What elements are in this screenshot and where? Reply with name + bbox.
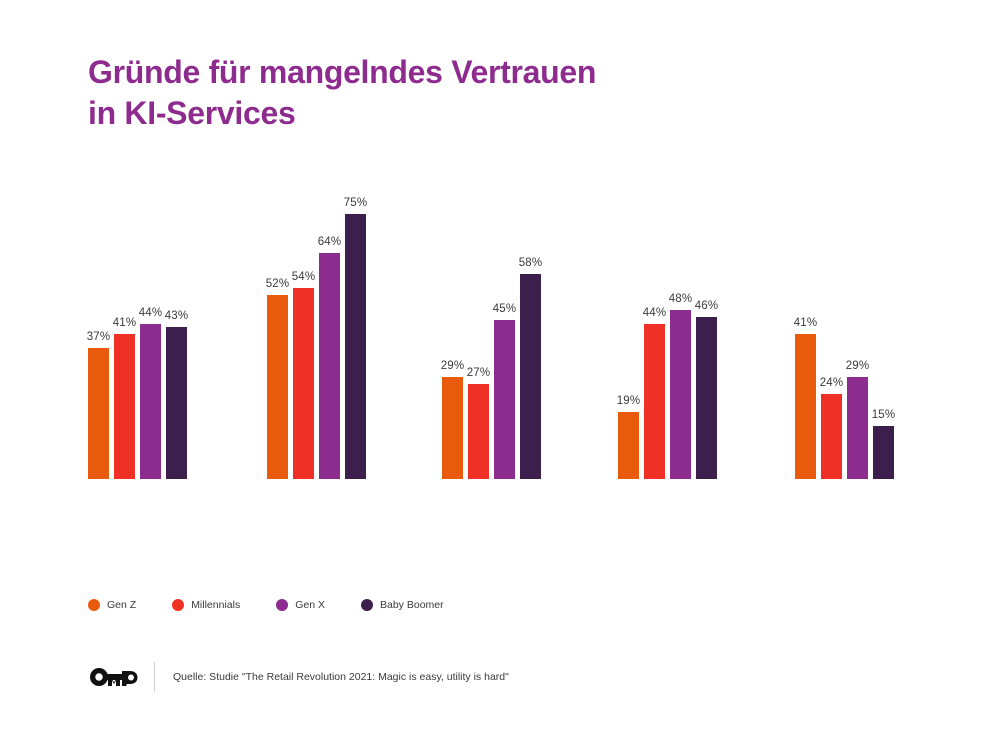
omp-logo	[88, 663, 140, 691]
bar-column[interactable]: 44%	[644, 179, 665, 479]
bar-group-bars: 29%27%45%58%	[442, 179, 546, 479]
bar[interactable]	[140, 324, 161, 479]
bar-column[interactable]: 48%	[670, 179, 691, 479]
bar-column[interactable]: 15%	[873, 179, 894, 479]
bar[interactable]	[873, 426, 894, 479]
bar[interactable]	[795, 334, 816, 479]
bar-value-label: 15%	[872, 409, 896, 421]
bar-column[interactable]: 75%	[345, 179, 366, 479]
bar-group-bars: 19%44%48%46%	[618, 179, 722, 479]
bar[interactable]	[166, 327, 187, 479]
bar-value-label: 41%	[113, 317, 137, 329]
bar-group-bars: 37%41%44%43%	[88, 179, 192, 479]
bar-value-label: 29%	[846, 360, 870, 372]
bar[interactable]	[821, 394, 842, 479]
legend-swatch-icon	[361, 599, 373, 611]
bar[interactable]	[494, 320, 515, 479]
legend-item[interactable]: Millennials	[172, 599, 240, 611]
bar-column[interactable]: 37%	[88, 179, 109, 479]
bar-column[interactable]: 52%	[267, 179, 288, 479]
bar[interactable]	[293, 288, 314, 479]
bar-value-label: 43%	[165, 310, 189, 322]
bar[interactable]	[442, 377, 463, 479]
bar[interactable]	[644, 324, 665, 479]
bar-value-label: 45%	[493, 303, 517, 315]
bar-value-label: 24%	[820, 377, 844, 389]
bar-chart-plot-area: 37%41%44%43%Ich vertraue der Organisatio…	[0, 0, 1000, 732]
bar-value-label: 75%	[344, 197, 368, 209]
legend-item[interactable]: Baby Boomer	[361, 599, 444, 611]
bar-column[interactable]: 44%	[140, 179, 161, 479]
bar-column[interactable]: 46%	[696, 179, 717, 479]
legend-label: Gen X	[295, 599, 325, 611]
bar-value-label: 64%	[318, 236, 342, 248]
bar-value-label: 58%	[519, 257, 543, 269]
chart-footer: Quelle: Studie "The Retail Revolution 20…	[88, 660, 509, 694]
legend-swatch-icon	[276, 599, 288, 611]
bar[interactable]	[319, 253, 340, 479]
bar-column[interactable]: 58%	[520, 179, 541, 479]
legend-swatch-icon	[172, 599, 184, 611]
bar-value-label: 27%	[467, 367, 491, 379]
bar[interactable]	[468, 384, 489, 479]
legend-swatch-icon	[88, 599, 100, 611]
bar-group-bars: 52%54%64%75%	[267, 179, 371, 479]
chart-legend: Gen ZMillennialsGen XBaby Boomer	[88, 599, 480, 611]
source-caption: Quelle: Studie "The Retail Revolution 20…	[173, 671, 509, 683]
legend-label: Gen Z	[107, 599, 136, 611]
bar-group-bars: 41%24%29%15%	[795, 179, 899, 479]
footer-divider	[154, 662, 155, 692]
bar-column[interactable]: 54%	[293, 179, 314, 479]
bar[interactable]	[345, 214, 366, 479]
bar-column[interactable]: 29%	[442, 179, 463, 479]
bar-value-label: 19%	[617, 395, 641, 407]
bar-column[interactable]: 64%	[319, 179, 340, 479]
bar-value-label: 44%	[139, 307, 163, 319]
legend-item[interactable]: Gen X	[276, 599, 325, 611]
bar-column[interactable]: 19%	[618, 179, 639, 479]
bar[interactable]	[847, 377, 868, 479]
bar-value-label: 48%	[669, 293, 693, 305]
bar-column[interactable]: 45%	[494, 179, 515, 479]
bar-value-label: 41%	[794, 317, 818, 329]
legend-label: Millennials	[191, 599, 240, 611]
bar[interactable]	[670, 310, 691, 479]
bar-column[interactable]: 43%	[166, 179, 187, 479]
bar-value-label: 52%	[266, 278, 290, 290]
bar-column[interactable]: 41%	[114, 179, 135, 479]
bar[interactable]	[267, 295, 288, 479]
bar[interactable]	[88, 348, 109, 479]
bar-column[interactable]: 41%	[795, 179, 816, 479]
legend-label: Baby Boomer	[380, 599, 444, 611]
bar-value-label: 46%	[695, 300, 719, 312]
bar[interactable]	[618, 412, 639, 479]
bar[interactable]	[520, 274, 541, 479]
bar-value-label: 54%	[292, 271, 316, 283]
bar-value-label: 37%	[87, 331, 111, 343]
bar[interactable]	[114, 334, 135, 479]
chart-page: Gründe für mangelndes Vertrauen in KI-Se…	[0, 0, 1000, 732]
bar-value-label: 29%	[441, 360, 465, 372]
bar-value-label: 44%	[643, 307, 667, 319]
bar[interactable]	[696, 317, 717, 479]
bar-column[interactable]: 27%	[468, 179, 489, 479]
bar-column[interactable]: 24%	[821, 179, 842, 479]
bar-column[interactable]: 29%	[847, 179, 868, 479]
legend-item[interactable]: Gen Z	[88, 599, 136, 611]
